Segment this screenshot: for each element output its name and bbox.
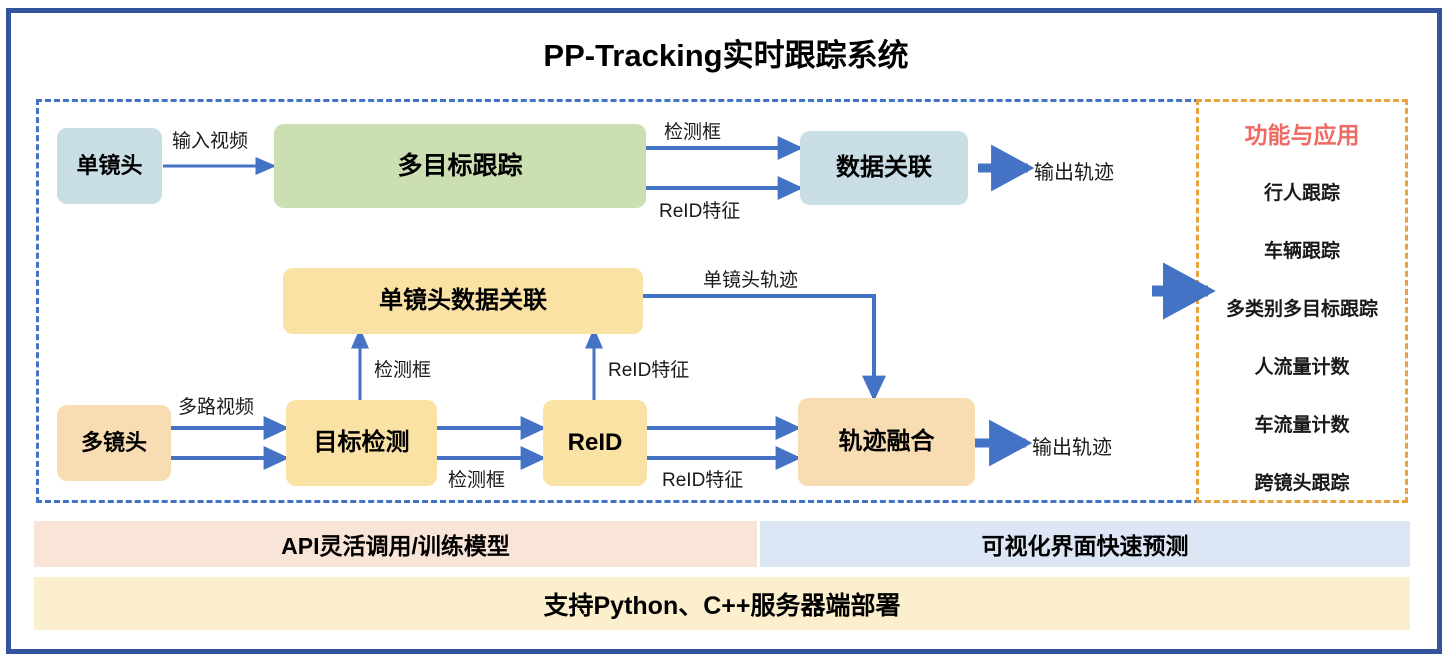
label-input-video: 输入视频 [172, 126, 248, 153]
label-reid-feature-bottom: ReID特征 [662, 465, 743, 492]
box-trajectory-fusion[interactable]: 轨迹融合 [798, 398, 975, 486]
label-output-trajectory-top: 输出轨迹 [1034, 156, 1114, 185]
box-data-association[interactable]: 数据关联 [800, 131, 968, 205]
application-item-vehicle-tracking: 车辆跟踪 [1199, 236, 1405, 263]
box-single-camera-data-association[interactable]: 单镜头数据关联 [283, 268, 643, 334]
applications-panel: 功能与应用 行人跟踪 车辆跟踪 多类别多目标跟踪 人流量计数 车流量计数 跨镜头… [1196, 99, 1408, 503]
page-title: PP-Tracking实时跟踪系统 [0, 30, 1452, 75]
applications-title: 功能与应用 [1199, 116, 1405, 150]
bar-server-deployment[interactable]: 支持Python、C++服务器端部署 [34, 577, 1410, 630]
bar-api-flexible-call[interactable]: API灵活调用/训练模型 [34, 521, 757, 567]
label-output-trajectory-bottom: 输出轨迹 [1032, 431, 1112, 460]
application-item-cross-camera: 跨镜头跟踪 [1199, 468, 1405, 495]
application-item-pedestrian-tracking: 行人跟踪 [1199, 178, 1405, 205]
label-reid-feature-top: ReID特征 [659, 196, 740, 223]
box-object-detection[interactable]: 目标检测 [286, 400, 437, 486]
box-multi-object-tracking[interactable]: 多目标跟踪 [274, 124, 646, 208]
label-multi-stream-video: 多路视频 [178, 392, 254, 419]
label-detection-box-up: 检测框 [374, 355, 431, 382]
label-reid-feature-up: ReID特征 [608, 355, 689, 382]
box-single-camera[interactable]: 单镜头 [57, 128, 162, 204]
diagram-canvas: PP-Tracking实时跟踪系统 功能与应用 行人跟踪 车辆跟踪 多类别多目标… [0, 0, 1452, 664]
label-detection-box-top: 检测框 [664, 117, 721, 144]
application-item-people-counting: 人流量计数 [1199, 352, 1405, 379]
box-reid[interactable]: ReID [543, 400, 647, 486]
label-single-camera-trajectory: 单镜头轨迹 [703, 265, 798, 292]
label-detection-box-bottom: 检测框 [448, 465, 505, 492]
application-item-multiclass-mot: 多类别多目标跟踪 [1199, 294, 1405, 321]
bar-visual-interface[interactable]: 可视化界面快速预测 [760, 521, 1410, 567]
box-multi-camera[interactable]: 多镜头 [57, 405, 171, 481]
application-item-vehicle-counting: 车流量计数 [1199, 410, 1405, 437]
